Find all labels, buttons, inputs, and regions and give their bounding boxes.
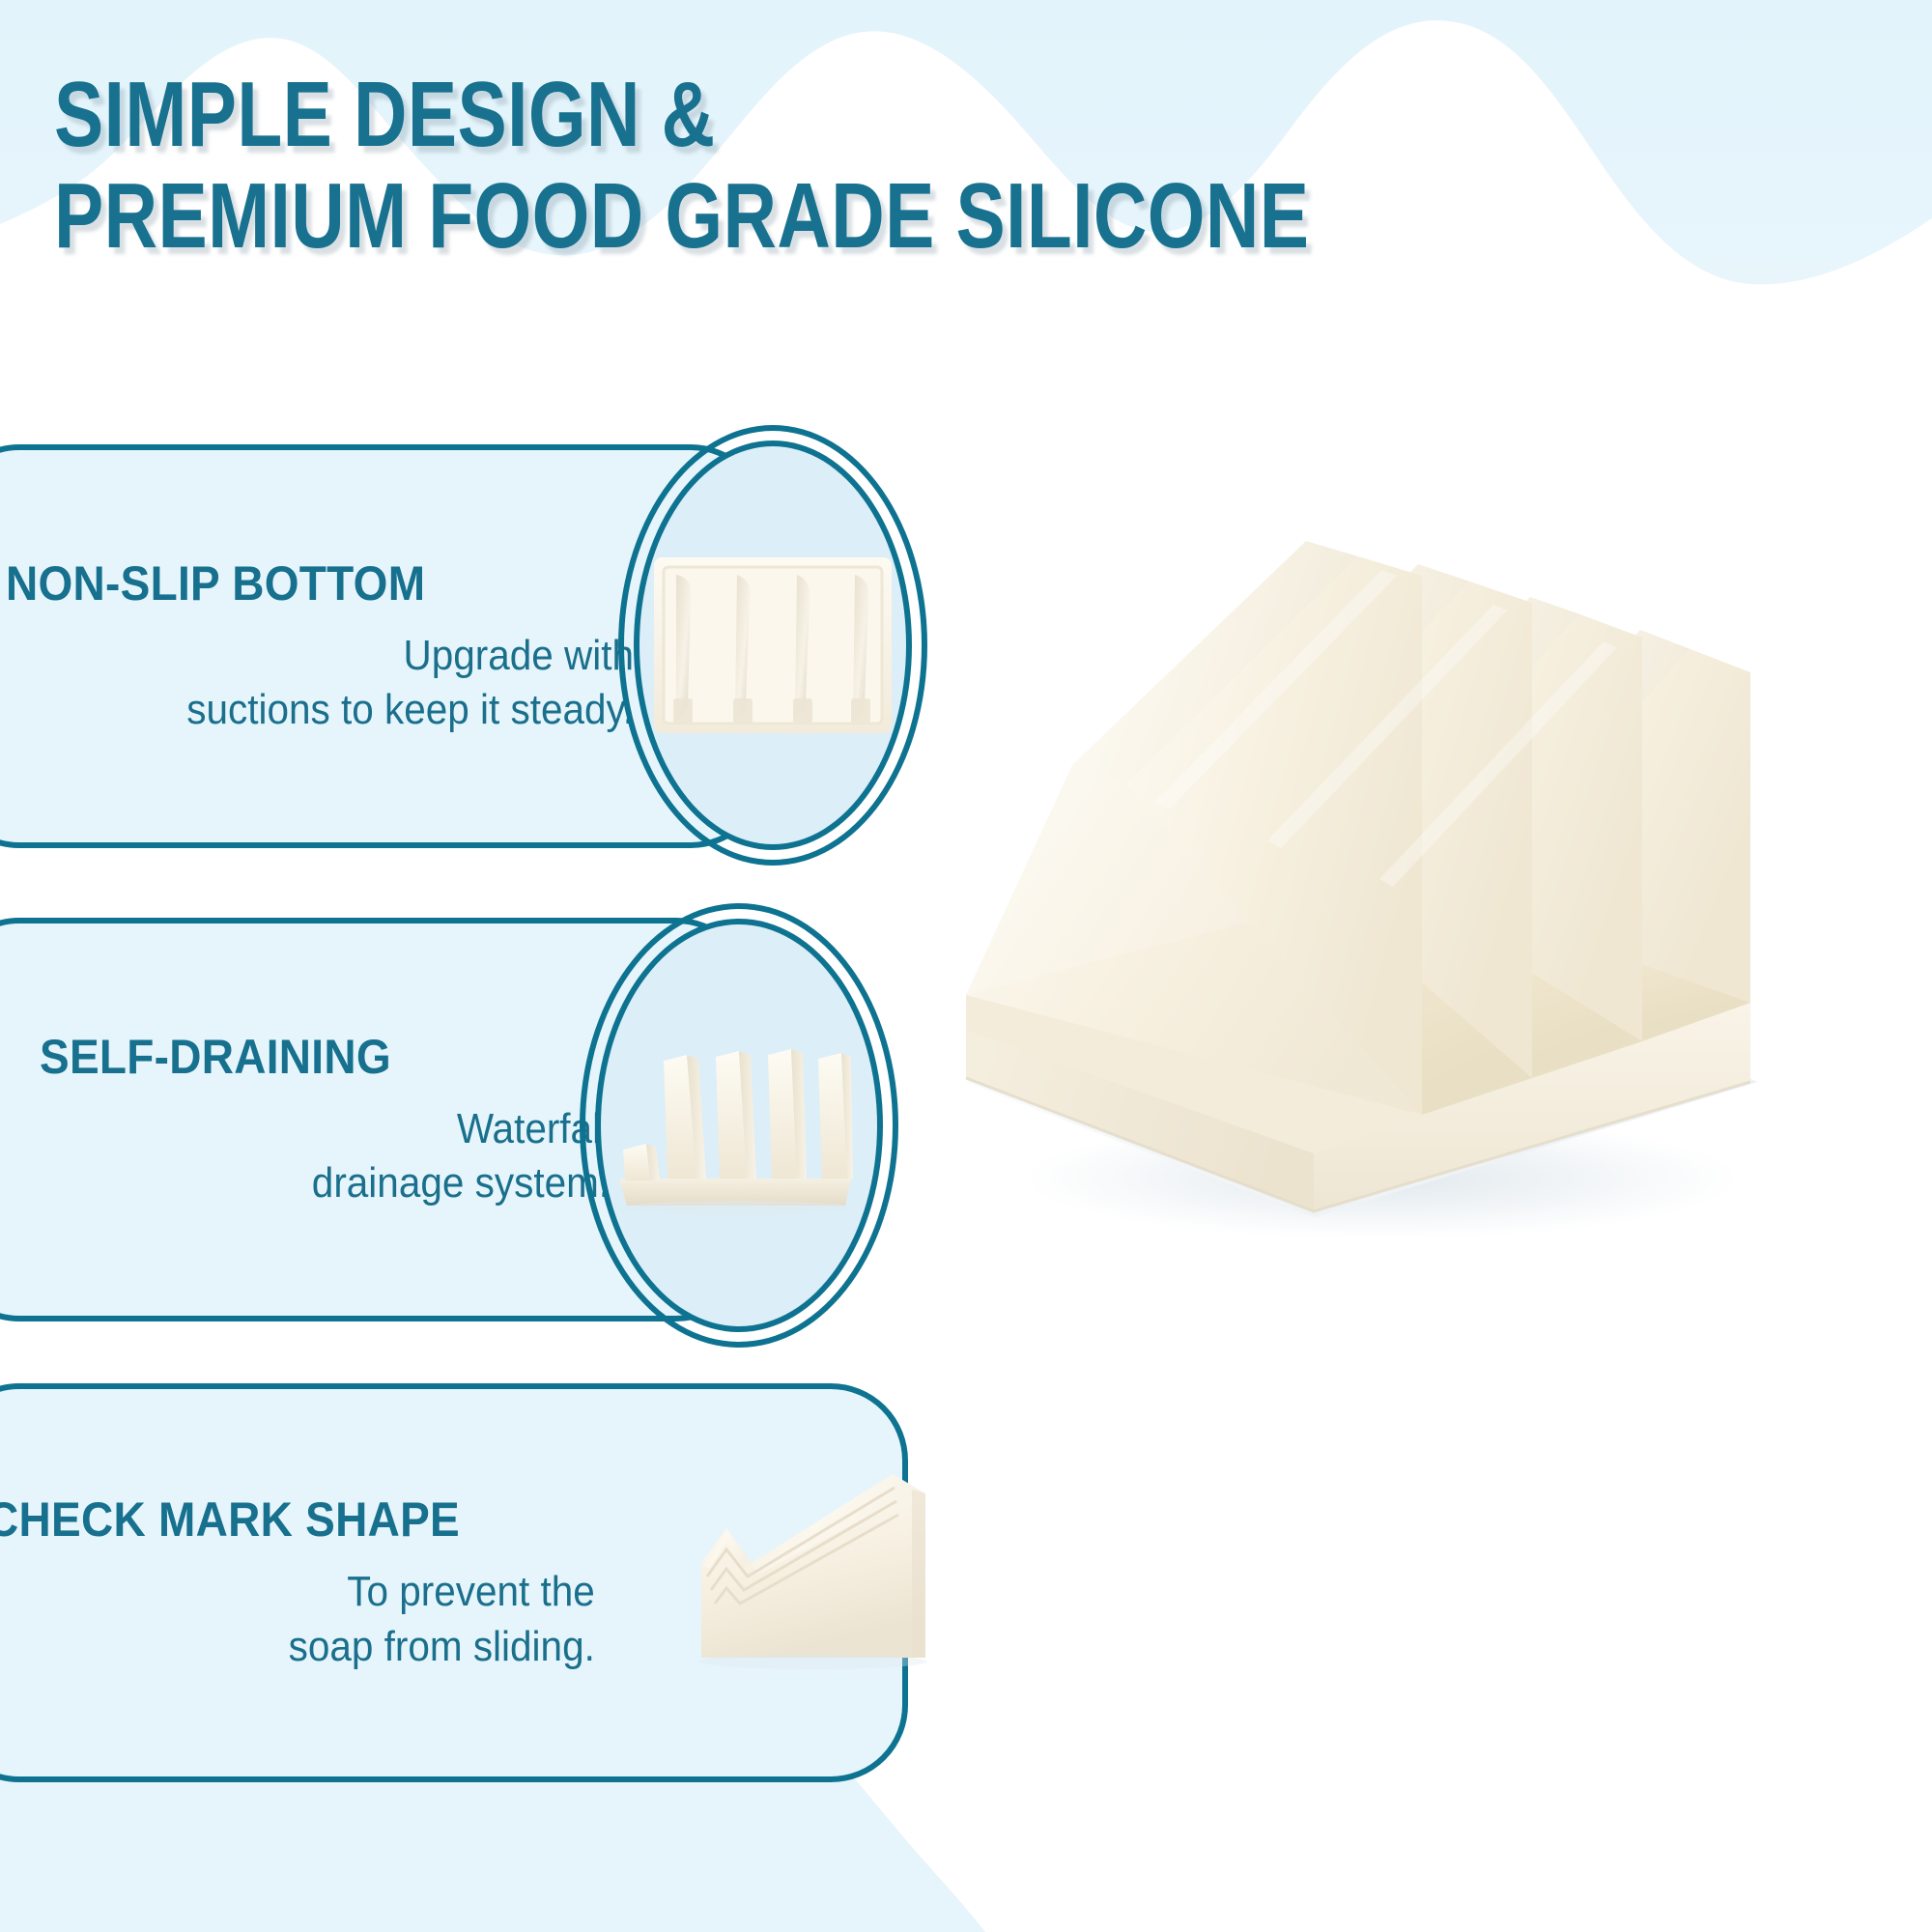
feature-description-line-1: Upgrade with — [403, 632, 634, 679]
infographic-canvas: SIMPLE DESIGN & PREMIUM FOOD GRADE SILIC… — [0, 0, 1932, 1932]
soap-dish-underside-suction-cups-photo — [652, 554, 894, 737]
page-title: SIMPLE DESIGN & PREMIUM FOOD GRADE SILIC… — [54, 68, 1889, 270]
feature-medallion-non-slip — [618, 425, 927, 866]
feature-heading: SELF-DRAINING — [40, 1029, 391, 1085]
feature-card-text: SELF-DRAINING Waterfall drainage system. — [40, 923, 619, 1316]
feature-description-line-2: soap from sliding. — [289, 1623, 595, 1670]
feature-medallion-self-draining — [580, 903, 898, 1348]
feature-description-line-1: To prevent the — [347, 1568, 595, 1615]
soap-dish-front-ridges-photo — [613, 1034, 865, 1217]
feature-description: Upgrade with suctions to keep it steady. — [186, 629, 634, 738]
soap-dish-check-mark-profile-photo — [694, 1468, 935, 1690]
title-line-2: PREMIUM FOOD GRADE SILICONE — [54, 169, 1522, 265]
feature-card-text: NON-SLIP BOTTOM Upgrade with suctions to… — [6, 450, 643, 842]
soap-dish-hero-isometric-photo — [927, 541, 1797, 1275]
feature-description-line-2: suctions to keep it steady. — [186, 686, 634, 733]
title-line-1: SIMPLE DESIGN & — [54, 68, 1522, 163]
feature-description: To prevent the soap from sliding. — [289, 1565, 595, 1674]
feature-card-text: CHECK MARK SHAPE To prevent the soap fro… — [0, 1389, 605, 1776]
feature-description-line-2: drainage system. — [312, 1159, 610, 1207]
feature-heading: NON-SLIP BOTTOM — [6, 555, 425, 611]
feature-description: Waterfall drainage system. — [312, 1102, 610, 1211]
feature-heading: CHECK MARK SHAPE — [0, 1492, 460, 1548]
